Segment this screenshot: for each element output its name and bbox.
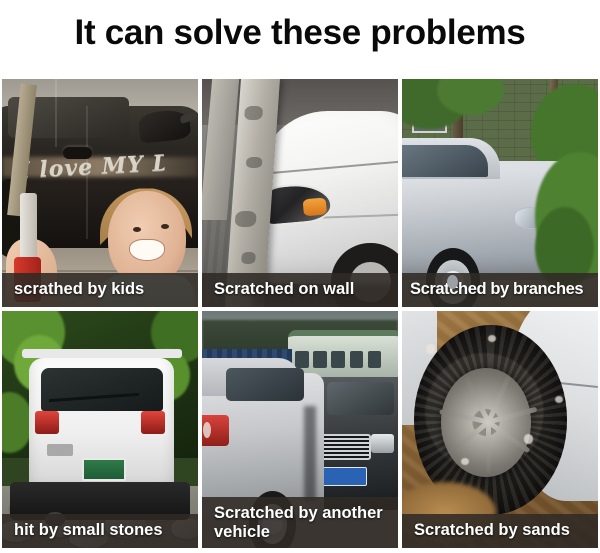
bus-window [313, 351, 327, 369]
photo-scratched-by-sands [402, 311, 598, 548]
bus-window [295, 351, 309, 369]
dark-sedan-headlight [371, 434, 395, 453]
rim-spoke [448, 420, 490, 455]
hatchback-window [226, 368, 304, 401]
caption-scratched-by-another-vehicle: Scratched by another vehicle [202, 497, 398, 548]
meme-page: It can solve these problems I love MY DA… [0, 0, 600, 553]
bus-window [350, 351, 364, 369]
photo-hit-by-small-stones [2, 311, 198, 548]
caption-scratched-on-wall: Scratched on wall [202, 273, 398, 307]
grid-cell-scratched-by-kids[interactable]: I love MY DAD scrathed by kids [0, 77, 200, 309]
pillar-stain-3 [235, 211, 258, 227]
mud-splash [426, 344, 436, 353]
alloy-wheel-rim [441, 368, 531, 477]
caption-scratched-by-kids: scrathed by kids [2, 273, 198, 307]
hatchback-tail-light [202, 415, 229, 446]
grid-cell-hit-by-small-stones[interactable]: hit by small stones [0, 309, 200, 550]
pillar-stain-2 [246, 157, 262, 168]
grid-cell-scratched-on-wall[interactable]: Scratched on wall [200, 77, 400, 309]
roof-rails [22, 349, 183, 358]
door-seam-secondary [55, 79, 57, 147]
bus-window [331, 351, 345, 369]
pillar-stain-1 [244, 106, 263, 120]
problem-image-grid: I love MY DAD scrathed by kids [0, 77, 600, 550]
collision-contact-shadow [304, 406, 316, 501]
mud-splash [461, 458, 469, 465]
grid-cell-scratched-by-branches[interactable]: Scratched by branches [400, 77, 600, 309]
grid-cell-scratched-by-another-vehicle[interactable]: Scratched by another vehicle [200, 309, 400, 550]
mud-splash [488, 335, 496, 342]
mud-splash [524, 434, 534, 443]
jeep-rear-window [41, 368, 163, 411]
sedan-windshield [402, 145, 488, 177]
rim-spoke [486, 422, 491, 472]
bus-window [368, 351, 382, 369]
grid-cell-scratched-by-sands[interactable]: Scratched by sands [400, 309, 600, 550]
dark-sedan-windshield [327, 382, 394, 415]
caption-hit-by-small-stones: hit by small stones [2, 514, 198, 548]
caption-scratched-by-branches: Scratched by branches [402, 273, 598, 307]
jeep-license-plate [82, 458, 125, 481]
jeep-tail-light-left [35, 411, 59, 435]
caption-scratched-by-sands: Scratched by sands [402, 514, 598, 548]
jeep-tail-light-right [141, 411, 165, 435]
page-title: It can solve these problems [0, 2, 600, 64]
jeep-4x4-badge [47, 444, 72, 456]
child-eye-left [133, 227, 141, 232]
pillar-stain-4 [241, 252, 256, 263]
